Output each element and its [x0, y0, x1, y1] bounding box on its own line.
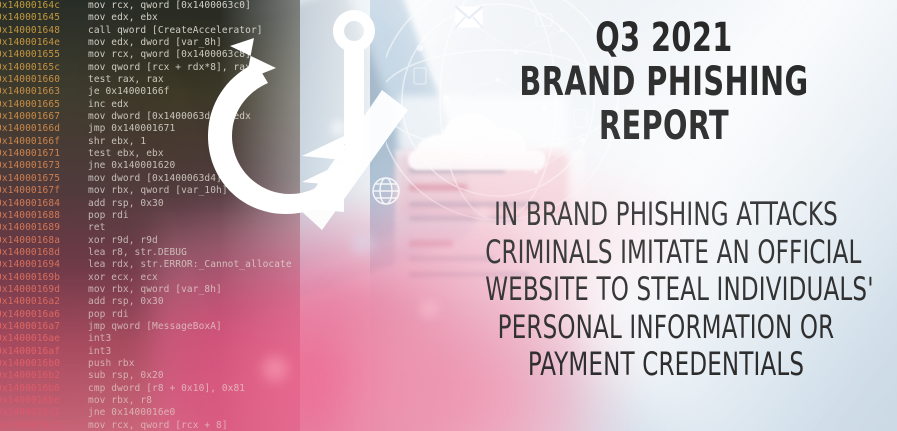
code-instruction: xor ecx, ecx	[88, 272, 158, 284]
headline-line-2: BRAND PHISHING	[494, 60, 833, 104]
code-address: 0x1400016b6	[0, 383, 60, 395]
code-instruction: add rsp, 0x30	[88, 296, 164, 308]
body-line-3: WEBSITE TO STEAL INDIVIDUALS'	[485, 271, 847, 309]
body-line-4: PERSONAL INFORMATION OR	[485, 309, 847, 347]
code-instruction: cmp dword [r8 + 0x10], 0x81	[88, 383, 245, 395]
code-address: 0x140001688	[0, 210, 60, 222]
code-line: 0x140001694lea rdx, str.ERROR:_Cannot_al…	[0, 259, 300, 271]
code-line: 0x1400016c1jne 0x1400016e0	[0, 407, 300, 419]
fishhook-icon	[168, 0, 414, 254]
code-address: 0x14000164e	[0, 37, 60, 49]
code-line: 0x1400016aeint3	[0, 333, 300, 345]
code-address: 0x140001675	[0, 173, 60, 185]
code-line: 0x1400016c3mov rcx, qword [rcx + 8]	[0, 420, 300, 431]
code-address: 0x140001673	[0, 160, 60, 172]
body-line-1: IN BRAND PHISHING ATTACKS	[485, 196, 847, 234]
code-instruction: jne 0x140001620	[88, 160, 175, 172]
code-address: 0x140001689	[0, 222, 60, 234]
code-address: 0x140001671	[0, 148, 60, 160]
code-address: 0x1400016c1	[0, 407, 60, 419]
code-line: 0x1400016bemov rbx, r8	[0, 395, 300, 407]
code-address: 0x14000168a	[0, 235, 60, 247]
code-address: 0x14000168d	[0, 247, 60, 259]
code-address: 0x1400016b0	[0, 358, 60, 370]
code-line: 0x1400016a7jmp qword [MessageBoxA]	[0, 321, 300, 333]
brand-phishing-report-banner: 0x14000164cmov rcx, qword [0x1400063c0]0…	[0, 0, 897, 431]
code-instruction: int3	[88, 333, 111, 345]
code-line: 0x1400016b0push rbx	[0, 358, 300, 370]
headline-block: Q3 2021 BRAND PHISHING REPORT	[452, 16, 876, 148]
code-instruction: lea rdx, str.ERROR:_Cannot_allocate	[88, 259, 292, 271]
bokeh-dot	[420, 300, 438, 318]
code-line: 0x1400016a2add rsp, 0x30	[0, 296, 300, 308]
code-address: 0x140001684	[0, 198, 60, 210]
code-address: 0x14000167f	[0, 185, 60, 197]
code-address: 0x1400016ae	[0, 333, 60, 345]
body-line-5: PAYMENT CREDENTIALS	[485, 346, 847, 384]
code-instruction: test rax, rax	[88, 74, 164, 86]
headline-line-1: Q3 2021	[494, 16, 833, 60]
code-line: 0x1400016afint3	[0, 346, 300, 358]
code-line: 0x14000169bxor ecx, ecx	[0, 272, 300, 284]
body-copy-block: IN BRAND PHISHING ATTACKS CRIMINALS IMIT…	[440, 196, 892, 384]
code-address: 0x1400016a6	[0, 309, 60, 321]
code-instruction: jmp qword [MessageBoxA]	[88, 321, 222, 333]
code-instruction: ret	[88, 222, 105, 234]
code-instruction: test ebx, ebx	[88, 148, 164, 160]
code-instruction: je 0x14000166f	[88, 86, 169, 98]
code-instruction: inc edx	[88, 99, 129, 111]
code-instruction: mov edx, ebx	[88, 12, 158, 24]
code-line: 0x14000169dmov rbx, qword [var_8h]	[0, 284, 300, 296]
code-instruction: mov rcx, qword [rcx + 8]	[88, 420, 228, 431]
code-address: 0x140001667	[0, 111, 60, 123]
code-address: 0x14000169b	[0, 272, 60, 284]
code-address: 0x14000166f	[0, 136, 60, 148]
headline-line-3: REPORT	[494, 104, 833, 148]
code-address: 0x140001655	[0, 49, 60, 61]
code-instruction: mov rbx, qword [var_8h]	[88, 284, 222, 296]
code-instruction: push rbx	[88, 358, 135, 370]
body-line-2: CRIMINALS IMITATE AN OFFICIAL	[485, 234, 847, 272]
code-instruction: pop rdi	[88, 309, 129, 321]
code-line: 0x1400016a6pop rdi	[0, 309, 300, 321]
code-address: 0x140001660	[0, 74, 60, 86]
code-address: 0x14000169d	[0, 284, 60, 296]
code-instruction: int3	[88, 346, 111, 358]
code-address: 0x140001648	[0, 25, 60, 37]
code-address: 0x140001694	[0, 259, 60, 271]
code-address: 0x1400016b2	[0, 370, 60, 382]
code-address: 0x1400016c3	[0, 420, 60, 431]
code-line: 0x1400016b6cmp dword [r8 + 0x10], 0x81	[0, 383, 300, 395]
code-instruction: add rsp, 0x30	[88, 198, 164, 210]
code-address: 0x14000166d	[0, 123, 60, 135]
code-instruction: jmp 0x140001671	[88, 123, 175, 135]
code-address: 0x14000165c	[0, 62, 60, 74]
code-address: 0x1400016af	[0, 346, 60, 358]
code-address: 0x1400016a2	[0, 296, 60, 308]
code-address: 0x140001645	[0, 12, 60, 24]
code-instruction: mov rbx, r8	[88, 395, 152, 407]
code-line: 0x1400016b2sub rsp, 0x20	[0, 370, 300, 382]
code-instruction: sub rsp, 0x20	[88, 370, 164, 382]
code-address: 0x14000164c	[0, 0, 60, 12]
globe-icon	[371, 176, 401, 206]
code-address: 0x1400016a7	[0, 321, 60, 333]
code-instruction: jne 0x1400016e0	[88, 407, 175, 419]
code-address: 0x140001663	[0, 86, 60, 98]
code-instruction: shr ebx, 1	[88, 136, 146, 148]
code-address: 0x140001665	[0, 99, 60, 111]
code-instruction: xor r9d, r9d	[88, 235, 158, 247]
code-address: 0x1400016be	[0, 395, 60, 407]
code-instruction: pop rdi	[88, 210, 129, 222]
